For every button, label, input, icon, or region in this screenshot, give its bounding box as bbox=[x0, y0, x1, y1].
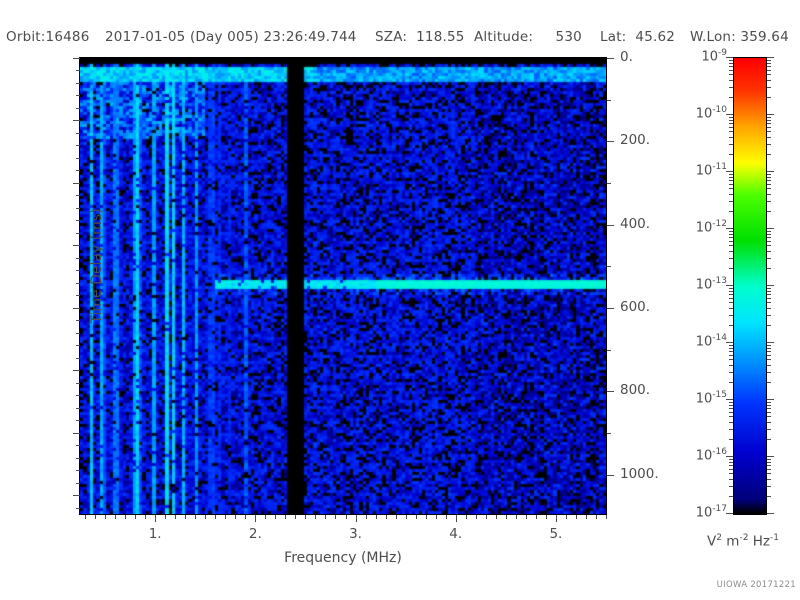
range-tick-minor bbox=[607, 100, 611, 101]
colorbar-tick-minor bbox=[729, 66, 733, 67]
x-tick-minor bbox=[416, 515, 417, 519]
colorbar-tick-minor bbox=[767, 486, 771, 487]
x-tick-minor bbox=[516, 515, 517, 519]
colorbar-tick-minor bbox=[767, 188, 771, 189]
spectrogram-plot-area: 0.1.2.3.4.5.6.7. Time Delay (ms) 0.200.4… bbox=[79, 57, 607, 515]
header-field-2: SZA: 118.55 bbox=[375, 29, 465, 45]
colorbar-tick-major bbox=[726, 513, 733, 514]
colorbar-tick-minor bbox=[767, 180, 771, 181]
x-tick-major bbox=[456, 515, 457, 522]
colorbar-tick-minor bbox=[767, 184, 771, 185]
y-tick-major bbox=[73, 370, 80, 371]
colorbar-tick-minor bbox=[729, 97, 733, 98]
colorbar-tick-major bbox=[767, 399, 774, 400]
colorbar-tick-minor bbox=[767, 131, 771, 132]
x-tick-minor bbox=[315, 515, 316, 519]
y-tick-minor bbox=[76, 133, 80, 134]
colorbar-tick-minor bbox=[729, 291, 733, 292]
x-tick-label-0: 1. bbox=[149, 526, 162, 542]
colorbar-tick-minor bbox=[767, 268, 771, 269]
colorbar-tick-minor bbox=[729, 405, 733, 406]
colorbar-tick-minor bbox=[729, 184, 733, 185]
x-tick-minor bbox=[125, 515, 126, 519]
x-tick-minor bbox=[586, 515, 587, 519]
y-tick-minor bbox=[76, 283, 80, 284]
x-tick-minor bbox=[366, 515, 367, 519]
colorbar-tick-minor bbox=[767, 294, 771, 295]
x-tick-minor bbox=[596, 515, 597, 519]
colorbar-tick-label-2: 10-11 bbox=[696, 162, 727, 178]
colorbar-tick-minor bbox=[729, 241, 733, 242]
colorbar-tick-major bbox=[767, 513, 774, 514]
colorbar-tick-minor bbox=[729, 234, 733, 235]
colorbar-tick-minor bbox=[729, 348, 733, 349]
x-tick-minor bbox=[566, 515, 567, 519]
x-tick-label-1: 2. bbox=[249, 526, 262, 542]
colorbar-tick-minor bbox=[729, 174, 733, 175]
colorbar-tick-minor bbox=[767, 245, 771, 246]
colorbar-tick-minor bbox=[767, 120, 771, 121]
colorbar-tick-minor bbox=[729, 408, 733, 409]
colorbar-tick-minor bbox=[729, 211, 733, 212]
x-tick-minor bbox=[496, 515, 497, 519]
colorbar-tick-minor bbox=[729, 63, 733, 64]
x-tick-minor bbox=[165, 515, 166, 519]
colorbar-tick-minor bbox=[767, 237, 771, 238]
colorbar-tick-major bbox=[726, 171, 733, 172]
colorbar-tick-minor bbox=[729, 154, 733, 155]
x-tick-minor bbox=[145, 515, 146, 519]
colorbar-tick-minor bbox=[729, 496, 733, 497]
y-tick-minor bbox=[76, 270, 80, 271]
colorbar-tick-minor bbox=[767, 234, 771, 235]
x-tick-minor bbox=[346, 515, 347, 519]
range-tick-major bbox=[607, 475, 614, 476]
ionogram-figure: Orbit:164862017-01-05 (Day 005) 23:26:49… bbox=[0, 0, 800, 600]
x-tick-minor bbox=[215, 515, 216, 519]
colorbar-tick-minor bbox=[767, 372, 771, 373]
colorbar-tick-minor bbox=[729, 74, 733, 75]
colorbar-tick-minor bbox=[767, 80, 771, 81]
colorbar-tick-label-8: 10-17 bbox=[696, 504, 727, 520]
y-tick-minor bbox=[76, 383, 80, 384]
y-tick-minor bbox=[76, 320, 80, 321]
colorbar-tick-minor bbox=[729, 429, 733, 430]
y-axis-left-label: Time Delay (ms) bbox=[89, 186, 105, 346]
colorbar-tick-label-6: 10-15 bbox=[696, 390, 727, 406]
x-tick-minor bbox=[506, 515, 507, 519]
header-field-1: 2017-01-05 (Day 005) 23:26:49.744 bbox=[105, 29, 357, 45]
x-tick-major bbox=[255, 515, 256, 522]
colorbar-tick-minor bbox=[767, 63, 771, 64]
y-tick-minor bbox=[76, 483, 80, 484]
colorbar-tick-minor bbox=[767, 412, 771, 413]
colorbar-tick-minor bbox=[767, 422, 771, 423]
x-tick-minor bbox=[325, 515, 326, 519]
x-tick-minor bbox=[95, 515, 96, 519]
range-tick-major bbox=[607, 225, 614, 226]
range-tick-minor bbox=[607, 266, 611, 267]
range-tick-minor bbox=[607, 183, 611, 184]
header-field-0: Orbit:16486 bbox=[6, 29, 89, 45]
x-tick-minor bbox=[135, 515, 136, 519]
colorbar-tick-major bbox=[726, 57, 733, 58]
colorbar-tick-minor bbox=[767, 429, 771, 430]
y-tick-major bbox=[73, 183, 80, 184]
x-tick-label-4: 5. bbox=[549, 526, 562, 542]
colorbar-tick-minor bbox=[767, 465, 771, 466]
x-tick-label-2: 3. bbox=[349, 526, 362, 542]
colorbar-tick-minor bbox=[729, 237, 733, 238]
colorbar-tick-minor bbox=[767, 315, 771, 316]
header-field-3: Altitude: 530 bbox=[474, 29, 582, 45]
colorbar-tick-major bbox=[726, 228, 733, 229]
range-tick-label-3: 600. bbox=[620, 299, 650, 315]
range-tick-minor bbox=[607, 433, 611, 434]
colorbar-tick-label-7: 10-16 bbox=[696, 447, 727, 463]
colorbar-tick-minor bbox=[767, 291, 771, 292]
colorbar-tick-minor bbox=[767, 416, 771, 417]
colorbar-tick-minor bbox=[767, 154, 771, 155]
y-tick-minor bbox=[76, 83, 80, 84]
colorbar-tick-minor bbox=[729, 131, 733, 132]
x-tick-minor bbox=[85, 515, 86, 519]
colorbar-tick-major bbox=[767, 171, 774, 172]
colorbar-tick-minor bbox=[729, 137, 733, 138]
colorbar-tick-major bbox=[726, 342, 733, 343]
header-field-5: W.Lon: 359.64 bbox=[690, 29, 789, 45]
colorbar-tick-minor bbox=[767, 496, 771, 497]
colorbar-tick-minor bbox=[767, 351, 771, 352]
x-tick-minor bbox=[295, 515, 296, 519]
range-tick-major bbox=[607, 308, 614, 309]
y-tick-minor bbox=[76, 158, 80, 159]
y-tick-minor bbox=[76, 195, 80, 196]
y-tick-minor bbox=[76, 233, 80, 234]
colorbar-tick-minor bbox=[767, 298, 771, 299]
x-tick-minor bbox=[436, 515, 437, 519]
colorbar-tick-minor bbox=[767, 325, 771, 326]
colorbar-tick-minor bbox=[767, 405, 771, 406]
colorbar-tick-minor bbox=[767, 288, 771, 289]
colorbar-tick-minor bbox=[729, 120, 733, 121]
colorbar-tick-minor bbox=[729, 462, 733, 463]
colorbar-tick-minor bbox=[767, 201, 771, 202]
colorbar-tick-major bbox=[767, 342, 774, 343]
y-tick-minor bbox=[76, 220, 80, 221]
colorbar-tick-label-1: 10-10 bbox=[696, 105, 727, 121]
colorbar-tick-minor bbox=[729, 194, 733, 195]
x-tick-minor bbox=[466, 515, 467, 519]
x-tick-minor bbox=[426, 515, 427, 519]
colorbar-tick-minor bbox=[729, 439, 733, 440]
colorbar-tick-minor bbox=[729, 351, 733, 352]
colorbar-tick-minor bbox=[729, 412, 733, 413]
colorbar-tick-minor bbox=[729, 473, 733, 474]
x-tick-minor bbox=[376, 515, 377, 519]
colorbar-tick-minor bbox=[729, 325, 733, 326]
colorbar-tick-minor bbox=[729, 365, 733, 366]
colorbar-tick-label-5: 10-14 bbox=[696, 333, 727, 349]
x-tick-minor bbox=[335, 515, 336, 519]
range-tick-label-2: 400. bbox=[620, 216, 650, 232]
range-tick-minor bbox=[607, 350, 611, 351]
colorbar-tick-minor bbox=[729, 302, 733, 303]
colorbar: 10-910-1010-1110-1210-1310-1410-1510-161… bbox=[733, 57, 767, 513]
colorbar-tick-minor bbox=[767, 439, 771, 440]
y-tick-minor bbox=[76, 508, 80, 509]
colorbar-tick-minor bbox=[729, 144, 733, 145]
colorbar-tick-minor bbox=[729, 459, 733, 460]
x-tick-label-3: 4. bbox=[449, 526, 462, 542]
colorbar-tick-minor bbox=[767, 74, 771, 75]
y-tick-minor bbox=[76, 358, 80, 359]
colorbar-tick-minor bbox=[729, 486, 733, 487]
header-field-4: Lat: 45.62 bbox=[600, 29, 675, 45]
colorbar-tick-minor bbox=[767, 408, 771, 409]
colorbar-tick-minor bbox=[729, 372, 733, 373]
colorbar-tick-minor bbox=[729, 288, 733, 289]
x-tick-minor bbox=[195, 515, 196, 519]
colorbar-tick-minor bbox=[729, 469, 733, 470]
colorbar-unit-label: V2 m-2 Hz-1 bbox=[683, 533, 800, 550]
y-tick-minor bbox=[76, 408, 80, 409]
x-tick-minor bbox=[546, 515, 547, 519]
x-tick-minor bbox=[175, 515, 176, 519]
colorbar-tick-minor bbox=[767, 402, 771, 403]
y-tick-minor bbox=[76, 445, 80, 446]
metadata-header: Orbit:164862017-01-05 (Day 005) 23:26:49… bbox=[0, 29, 800, 49]
x-tick-minor bbox=[386, 515, 387, 519]
colorbar-tick-major bbox=[767, 114, 774, 115]
colorbar-tick-minor bbox=[767, 177, 771, 178]
colorbar-tick-minor bbox=[729, 416, 733, 417]
x-tick-minor bbox=[536, 515, 537, 519]
colorbar-tick-minor bbox=[767, 70, 771, 71]
colorbar-tick-minor bbox=[767, 137, 771, 138]
colorbar-tick-minor bbox=[767, 469, 771, 470]
colorbar-tick-minor bbox=[729, 298, 733, 299]
colorbar-tick-minor bbox=[767, 123, 771, 124]
y-tick-minor bbox=[76, 108, 80, 109]
x-tick-minor bbox=[305, 515, 306, 519]
colorbar-tick-minor bbox=[729, 60, 733, 61]
colorbar-tick-minor bbox=[729, 359, 733, 360]
y-tick-minor bbox=[76, 395, 80, 396]
colorbar-tick-major bbox=[726, 114, 733, 115]
colorbar-tick-major bbox=[726, 456, 733, 457]
y-tick-major bbox=[73, 433, 80, 434]
range-tick-label-1: 200. bbox=[620, 132, 650, 148]
y-tick-minor bbox=[76, 470, 80, 471]
x-axis-label: Frequency (MHz) bbox=[80, 550, 606, 566]
colorbar-tick-minor bbox=[767, 231, 771, 232]
x-tick-major bbox=[556, 515, 557, 522]
colorbar-tick-minor bbox=[767, 87, 771, 88]
x-tick-minor bbox=[265, 515, 266, 519]
colorbar-tick-minor bbox=[767, 258, 771, 259]
colorbar-tick-minor bbox=[729, 251, 733, 252]
y-tick-minor bbox=[76, 420, 80, 421]
x-tick-minor bbox=[476, 515, 477, 519]
x-tick-minor bbox=[396, 515, 397, 519]
colorbar-tick-major bbox=[767, 228, 774, 229]
colorbar-tick-minor bbox=[767, 479, 771, 480]
x-tick-minor bbox=[235, 515, 236, 519]
colorbar-tick-minor bbox=[729, 177, 733, 178]
y-tick-minor bbox=[76, 208, 80, 209]
colorbar-tick-minor bbox=[767, 174, 771, 175]
colorbar-tick-minor bbox=[729, 355, 733, 356]
x-tick-minor bbox=[185, 515, 186, 519]
range-tick-major bbox=[607, 391, 614, 392]
colorbar-tick-minor bbox=[729, 127, 733, 128]
x-tick-minor bbox=[285, 515, 286, 519]
y-tick-minor bbox=[76, 333, 80, 334]
spectrogram-canvas bbox=[80, 58, 606, 514]
x-tick-minor bbox=[225, 515, 226, 519]
x-tick-minor bbox=[205, 515, 206, 519]
colorbar-tick-major bbox=[726, 285, 733, 286]
range-tick-label-5: 1000. bbox=[620, 466, 659, 482]
colorbar-tick-major bbox=[726, 399, 733, 400]
range-tick-label-0: 0. bbox=[620, 49, 633, 65]
colorbar-tick-minor bbox=[729, 188, 733, 189]
colorbar-tick-minor bbox=[729, 382, 733, 383]
colorbar-tick-minor bbox=[729, 479, 733, 480]
colorbar-tick-minor bbox=[729, 345, 733, 346]
colorbar-gradient bbox=[733, 57, 767, 515]
colorbar-tick-minor bbox=[767, 459, 771, 460]
y-tick-major bbox=[73, 495, 80, 496]
colorbar-tick-minor bbox=[767, 97, 771, 98]
colorbar-tick-label-0: 10-9 bbox=[701, 48, 727, 64]
x-tick-minor bbox=[526, 515, 527, 519]
colorbar-tick-minor bbox=[729, 80, 733, 81]
colorbar-tick-minor bbox=[729, 70, 733, 71]
x-tick-minor bbox=[606, 515, 607, 519]
colorbar-tick-minor bbox=[729, 268, 733, 269]
colorbar-tick-minor bbox=[767, 194, 771, 195]
x-tick-minor bbox=[245, 515, 246, 519]
colorbar-tick-minor bbox=[767, 462, 771, 463]
colorbar-tick-major bbox=[767, 57, 774, 58]
range-tick-major bbox=[607, 58, 614, 59]
colorbar-tick-minor bbox=[767, 302, 771, 303]
y-tick-major bbox=[73, 245, 80, 246]
colorbar-tick-minor bbox=[767, 241, 771, 242]
colorbar-tick-minor bbox=[767, 345, 771, 346]
x-tick-minor bbox=[115, 515, 116, 519]
y-tick-major bbox=[73, 58, 80, 59]
colorbar-tick-minor bbox=[767, 60, 771, 61]
colorbar-tick-minor bbox=[729, 180, 733, 181]
colorbar-tick-minor bbox=[767, 348, 771, 349]
colorbar-tick-minor bbox=[767, 211, 771, 212]
y-tick-minor bbox=[76, 145, 80, 146]
colorbar-tick-minor bbox=[729, 117, 733, 118]
y-tick-minor bbox=[76, 95, 80, 96]
colorbar-tick-minor bbox=[767, 127, 771, 128]
x-tick-minor bbox=[576, 515, 577, 519]
range-tick-label-4: 800. bbox=[620, 382, 650, 398]
y-tick-minor bbox=[76, 295, 80, 296]
colorbar-tick-label-3: 10-12 bbox=[696, 219, 727, 235]
colorbar-tick-minor bbox=[729, 87, 733, 88]
colorbar-tick-minor bbox=[767, 144, 771, 145]
colorbar-tick-minor bbox=[729, 201, 733, 202]
x-tick-minor bbox=[446, 515, 447, 519]
colorbar-tick-minor bbox=[767, 66, 771, 67]
colorbar-tick-minor bbox=[729, 258, 733, 259]
colorbar-tick-minor bbox=[767, 251, 771, 252]
range-tick-major bbox=[607, 141, 614, 142]
colorbar-tick-label-4: 10-13 bbox=[696, 276, 727, 292]
colorbar-tick-minor bbox=[729, 422, 733, 423]
colorbar-tick-minor bbox=[729, 315, 733, 316]
colorbar-tick-minor bbox=[729, 231, 733, 232]
colorbar-tick-minor bbox=[729, 123, 733, 124]
colorbar-tick-minor bbox=[767, 359, 771, 360]
colorbar-tick-minor bbox=[767, 308, 771, 309]
y-tick-major bbox=[73, 308, 80, 309]
colorbar-tick-minor bbox=[729, 294, 733, 295]
credit-stamp: UIOWA 20171221 bbox=[690, 580, 796, 590]
colorbar-tick-minor bbox=[767, 365, 771, 366]
colorbar-tick-minor bbox=[729, 465, 733, 466]
y-tick-minor bbox=[76, 258, 80, 259]
colorbar-tick-minor bbox=[767, 473, 771, 474]
colorbar-tick-minor bbox=[729, 402, 733, 403]
colorbar-tick-major bbox=[767, 285, 774, 286]
y-tick-minor bbox=[76, 345, 80, 346]
y-tick-major bbox=[73, 120, 80, 121]
colorbar-tick-minor bbox=[729, 308, 733, 309]
y-tick-minor bbox=[76, 70, 80, 71]
colorbar-tick-minor bbox=[729, 245, 733, 246]
y-tick-minor bbox=[76, 170, 80, 171]
x-tick-minor bbox=[275, 515, 276, 519]
colorbar-tick-minor bbox=[767, 355, 771, 356]
x-tick-minor bbox=[406, 515, 407, 519]
x-tick-minor bbox=[486, 515, 487, 519]
x-tick-major bbox=[155, 515, 156, 522]
colorbar-tick-minor bbox=[767, 117, 771, 118]
colorbar-tick-major bbox=[767, 456, 774, 457]
colorbar-tick-minor bbox=[767, 382, 771, 383]
y-tick-minor bbox=[76, 458, 80, 459]
x-tick-minor bbox=[105, 515, 106, 519]
x-tick-major bbox=[356, 515, 357, 522]
